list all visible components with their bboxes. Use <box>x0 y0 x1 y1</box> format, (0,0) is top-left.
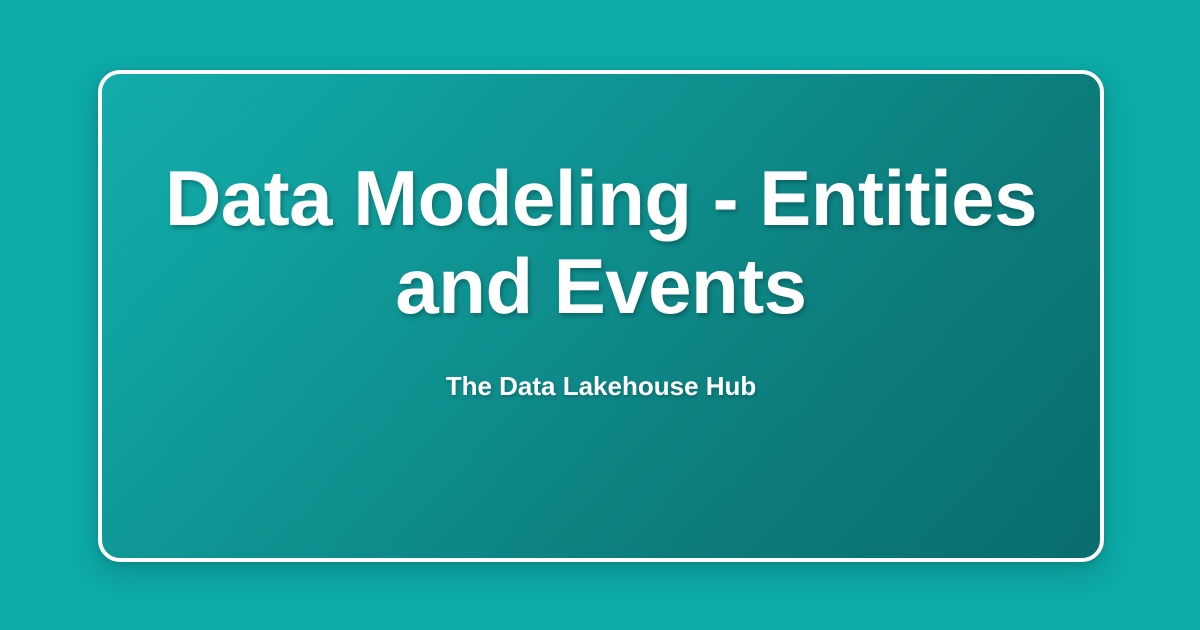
page-title: Data Modeling - Entities and Events <box>150 154 1052 330</box>
card-text-block: Data Modeling - Entities and Events The … <box>150 154 1052 401</box>
site-name-subtitle: The Data Lakehouse Hub <box>150 371 1052 402</box>
og-image-canvas: Data Modeling - Entities and Events The … <box>0 0 1200 630</box>
content-card: Data Modeling - Entities and Events The … <box>98 70 1104 562</box>
